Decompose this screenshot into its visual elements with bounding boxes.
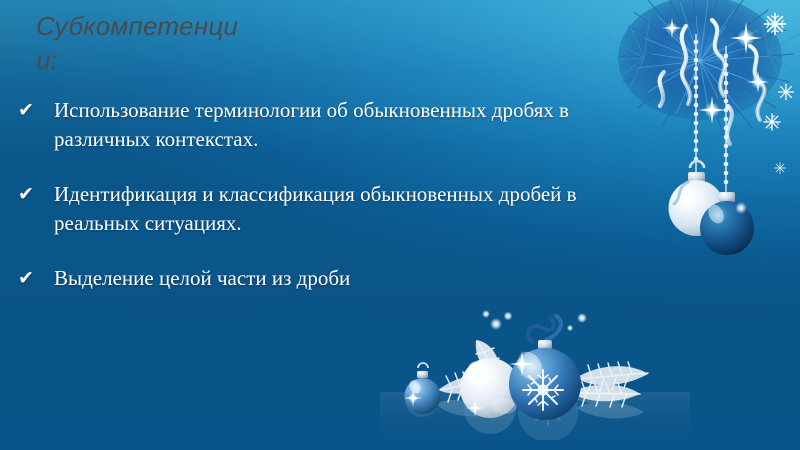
subcompetency-list: ✔ Использование терминологии об обыкнове… <box>18 96 578 293</box>
list-item: ✔ Использование терминологии об обыкнове… <box>18 96 578 153</box>
list-item: ✔ Идентификация и классификация обыкнове… <box>18 180 578 237</box>
check-icon: ✔ <box>18 180 54 208</box>
list-item-label: Выделение целой части из дроби <box>54 264 578 293</box>
check-icon: ✔ <box>18 264 54 292</box>
list-item-label: Использование терминологии об обыкновенн… <box>54 96 578 153</box>
list-item: ✔ Выделение целой части из дроби <box>18 264 578 293</box>
slide-canvas: Субкомпетенци и: ✔ Использование термино… <box>0 0 800 450</box>
page-title: Субкомпетенци и: <box>36 10 286 78</box>
check-icon: ✔ <box>18 96 54 124</box>
list-item-label: Идентификация и классификация обыкновенн… <box>54 180 578 237</box>
